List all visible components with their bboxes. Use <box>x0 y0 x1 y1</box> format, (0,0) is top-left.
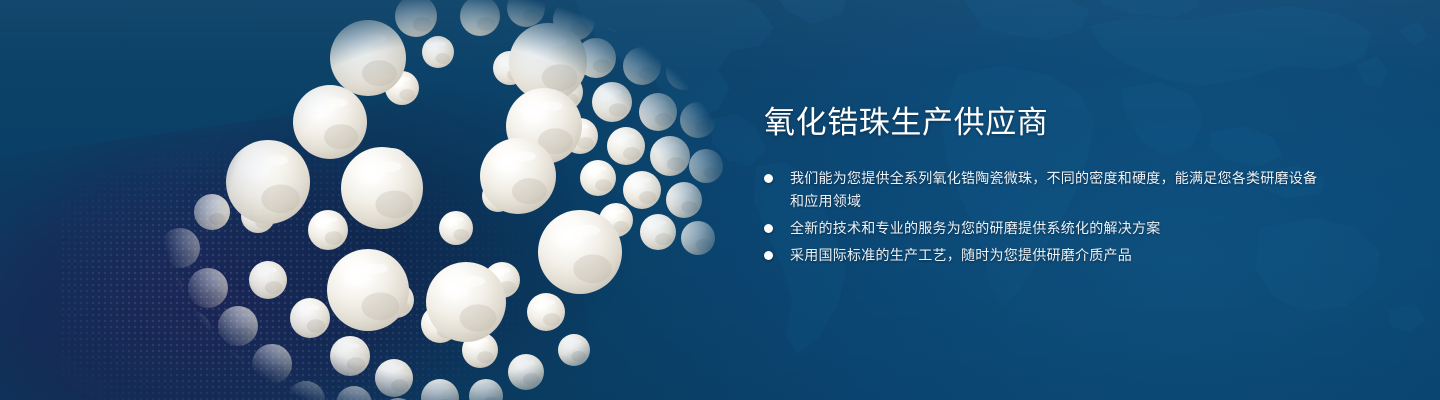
list-item: 全新的技术和专业的服务为您的研磨提供系统化的解决方案 <box>764 217 1324 240</box>
bullet-dot-icon <box>764 174 773 183</box>
list-item-label: 我们能为您提供全系列氧化锆陶瓷微珠，不同的密度和硬度，能满足您各类研磨设备和应用… <box>790 167 1324 213</box>
list-item-label: 全新的技术和专业的服务为您的研磨提供系统化的解决方案 <box>790 217 1324 240</box>
banner-copy: 氧化锆珠生产供应商 我们能为您提供全系列氧化锆陶瓷微珠，不同的密度和硬度，能满足… <box>764 106 1324 267</box>
list-item: 我们能为您提供全系列氧化锆陶瓷微珠，不同的密度和硬度，能满足您各类研磨设备和应用… <box>764 167 1324 213</box>
page-title: 氧化锆珠生产供应商 <box>764 106 1324 141</box>
feature-list: 我们能为您提供全系列氧化锆陶瓷微珠，不同的密度和硬度，能满足您各类研磨设备和应用… <box>764 167 1324 267</box>
list-item: 采用国际标准的生产工艺，随时为您提供研磨介质产品 <box>764 244 1324 267</box>
hero-banner: 氧化锆珠生产供应商 我们能为您提供全系列氧化锆陶瓷微珠，不同的密度和硬度，能满足… <box>0 0 1440 400</box>
bullet-dot-icon <box>764 224 773 233</box>
list-item-label: 采用国际标准的生产工艺，随时为您提供研磨介质产品 <box>790 244 1324 267</box>
bullet-dot-icon <box>764 251 773 260</box>
